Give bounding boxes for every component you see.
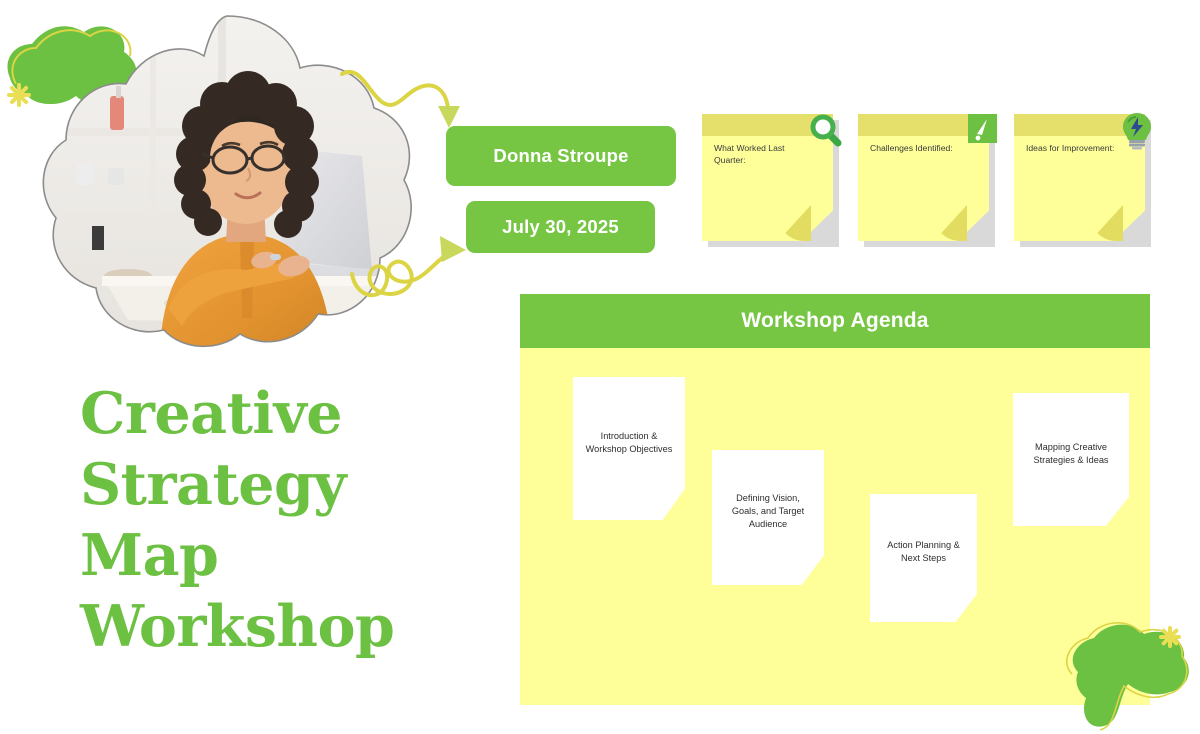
sticky-note[interactable]: Challenges Identified: — [858, 114, 995, 247]
poster-canvas: Donna Stroupe July 30, 2025 Creative Str… — [0, 0, 1200, 734]
presenter-photo — [32, 8, 422, 353]
presenter-name-text: Donna Stroupe — [493, 145, 628, 167]
title-line-3: Map — [80, 520, 480, 591]
sparkle-icon — [1158, 625, 1182, 649]
title-line-1: Creative — [80, 378, 480, 449]
exclamation-icon — [961, 110, 1001, 150]
agenda-card-text: Defining Vision, Goals, and Target Audie… — [722, 492, 814, 531]
agenda-card[interactable]: Mapping Creative Strategies & Ideas — [1013, 393, 1129, 526]
presenter-name-badge[interactable]: Donna Stroupe — [446, 126, 676, 186]
agenda-header: Workshop Agenda — [520, 294, 1150, 348]
title-line-2: Strategy — [80, 449, 480, 520]
title-line-4: Workshop — [80, 591, 480, 662]
sticky-note-text: Challenges Identified: — [870, 142, 968, 154]
agenda-card[interactable]: Action Planning & Next Steps — [870, 494, 977, 622]
lightbulb-icon — [1117, 110, 1157, 150]
sticky-note[interactable]: Ideas for Improvement: — [1014, 114, 1151, 247]
agenda-card[interactable]: Defining Vision, Goals, and Target Audie… — [712, 450, 824, 585]
sparkle-icon — [6, 82, 32, 108]
page-title: Creative Strategy Map Workshop — [80, 378, 480, 662]
sticky-note-text: What Worked Last Quarter: — [714, 142, 812, 166]
agenda-card[interactable]: Introduction & Workshop Objectives — [573, 377, 685, 520]
sticky-note-text: Ideas for Improvement: — [1026, 142, 1124, 154]
agenda-card-text: Introduction & Workshop Objectives — [583, 430, 675, 456]
magnifier-icon — [805, 110, 845, 150]
presentation-date-badge[interactable]: July 30, 2025 — [466, 201, 655, 253]
agenda-header-text: Workshop Agenda — [741, 309, 928, 333]
agenda-card-text: Mapping Creative Strategies & Ideas — [1023, 441, 1119, 467]
presentation-date-text: July 30, 2025 — [502, 216, 619, 238]
agenda-card-text: Action Planning & Next Steps — [880, 539, 967, 565]
sticky-note[interactable]: What Worked Last Quarter: — [702, 114, 839, 247]
